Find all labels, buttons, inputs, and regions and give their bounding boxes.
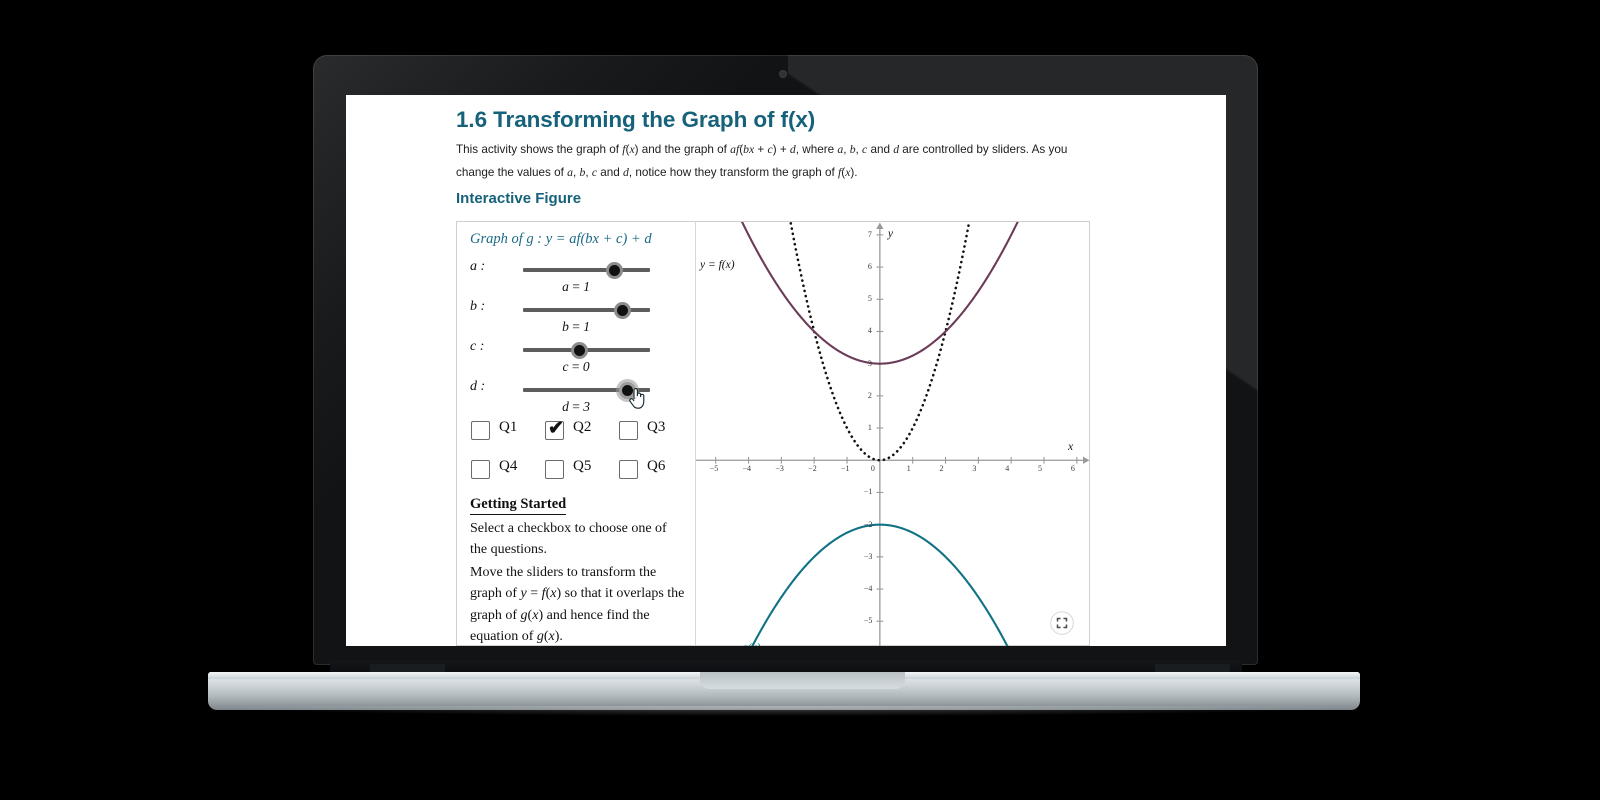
y-tick--4: −4 [864, 584, 873, 593]
y-tick-4: 4 [868, 326, 872, 335]
checkbox-label-q4: Q4 [499, 458, 517, 475]
y-tick-2: 2 [868, 391, 872, 400]
slider-value-d: d = 3 [457, 399, 695, 415]
slider-label-b: b : [470, 299, 485, 315]
y-tick-5: 5 [868, 294, 872, 303]
x-tick-5: 5 [1038, 464, 1042, 473]
web-page: 1.6 Transforming the Graph of f(x) This … [346, 95, 1226, 646]
getting-started-paragraph-2: Move the sliders to transform the graph … [470, 562, 686, 646]
checkbox-box-q1[interactable] [471, 421, 490, 440]
y-tick-1: 1 [868, 423, 872, 432]
x-tick-6: 6 [1071, 464, 1075, 473]
x-tick-3: 3 [972, 464, 976, 473]
laptop-base-notch [700, 672, 905, 689]
webcam-icon [779, 70, 787, 78]
interactive-figure[interactable]: Graph of g : y = af(bx + c) + d a :a = 1… [456, 221, 1090, 646]
y-tick-7: 7 [868, 230, 872, 239]
slider-label-d: d : [470, 379, 485, 395]
slider-label-a: a : [470, 259, 485, 275]
panel-title: Graph of g : y = af(bx + c) + d [470, 231, 652, 248]
section-heading: Interactive Figure [456, 190, 581, 207]
checkbox-label-q2: Q2 [573, 419, 591, 436]
y-tick-6: 6 [868, 262, 872, 271]
slider-track-a[interactable] [523, 268, 650, 272]
y-tick--5: −5 [864, 616, 873, 625]
curve-label-gx: g(x) [742, 642, 761, 646]
slider-thumb-c[interactable] [571, 342, 588, 359]
y-tick--2: −2 [864, 520, 873, 529]
x-tick-2: 2 [940, 464, 944, 473]
laptop-base-shadow [208, 706, 1360, 716]
getting-started-heading: Getting Started [470, 496, 566, 515]
check-icon: ✔ [548, 419, 564, 438]
checkbox-box-q4[interactable] [471, 460, 490, 479]
y-axis-label: y [888, 228, 893, 240]
slider-row-c[interactable]: c :c = 0 [457, 337, 695, 363]
checkbox-q3[interactable]: Q3 [619, 418, 691, 457]
slider-thumb-b[interactable] [614, 302, 631, 319]
x-tick--4: −4 [743, 464, 752, 473]
checkbox-q4[interactable]: Q4 [471, 457, 543, 496]
fullscreen-icon[interactable] [1050, 611, 1074, 635]
intro-paragraph: This activity shows the graph of f(x) an… [456, 139, 1076, 185]
graph-svg [696, 222, 1090, 646]
screen-viewport: 1.6 Transforming the Graph of f(x) This … [346, 95, 1226, 646]
getting-started-paragraph-1: Select a checkbox to choose one of the q… [470, 518, 686, 561]
x-tick--1: −1 [841, 464, 850, 473]
graph-plot-area[interactable]: −5−4−3−2−101234567654321−1−2−3−4−5 x y y… [696, 222, 1090, 646]
checkbox-label-q6: Q6 [647, 458, 665, 475]
curve-label-fx: y = f(x) [700, 259, 735, 271]
checkbox-q6[interactable]: Q6 [619, 457, 691, 496]
control-panel: Graph of g : y = af(bx + c) + d a :a = 1… [457, 222, 695, 646]
y-tick--1: −1 [864, 487, 873, 496]
checkbox-box-q6[interactable] [619, 460, 638, 479]
checkbox-q2[interactable]: ✔Q2 [545, 418, 617, 457]
x-tick-4: 4 [1005, 464, 1009, 473]
slider-value-b: b = 1 [457, 319, 695, 335]
checkbox-q1[interactable]: Q1 [471, 418, 543, 457]
laptop-mockup: 1.6 Transforming the Graph of f(x) This … [0, 0, 1600, 800]
x-tick-1: 1 [907, 464, 911, 473]
checkbox-label-q3: Q3 [647, 419, 665, 436]
checkbox-box-q2[interactable]: ✔ [545, 421, 564, 440]
slider-value-a: a = 1 [457, 279, 695, 295]
slider-row-b[interactable]: b :b = 1 [457, 297, 695, 323]
checkbox-label-q1: Q1 [499, 419, 517, 436]
checkbox-label-q5: Q5 [573, 458, 591, 475]
page-title: 1.6 Transforming the Graph of f(x) [456, 107, 815, 133]
slider-row-a[interactable]: a :a = 1 [457, 257, 695, 283]
slider-value-c: c = 0 [457, 359, 695, 375]
checkbox-q5[interactable]: Q5 [545, 457, 617, 496]
mouse-cursor-hand-icon [628, 385, 646, 409]
x-tick--3: −3 [775, 464, 784, 473]
x-tick-0: 0 [871, 464, 875, 473]
slider-label-c: c : [470, 339, 484, 355]
x-tick--2: −2 [808, 464, 817, 473]
x-tick--5: −5 [710, 464, 719, 473]
slider-thumb-a[interactable] [606, 262, 623, 279]
slider-row-d[interactable]: d :d = 3 [457, 377, 695, 403]
x-axis-label: x [1068, 441, 1073, 453]
y-tick--3: −3 [864, 552, 873, 561]
y-tick-3: 3 [868, 359, 872, 368]
checkbox-box-q3[interactable] [619, 421, 638, 440]
checkbox-box-q5[interactable] [545, 460, 564, 479]
